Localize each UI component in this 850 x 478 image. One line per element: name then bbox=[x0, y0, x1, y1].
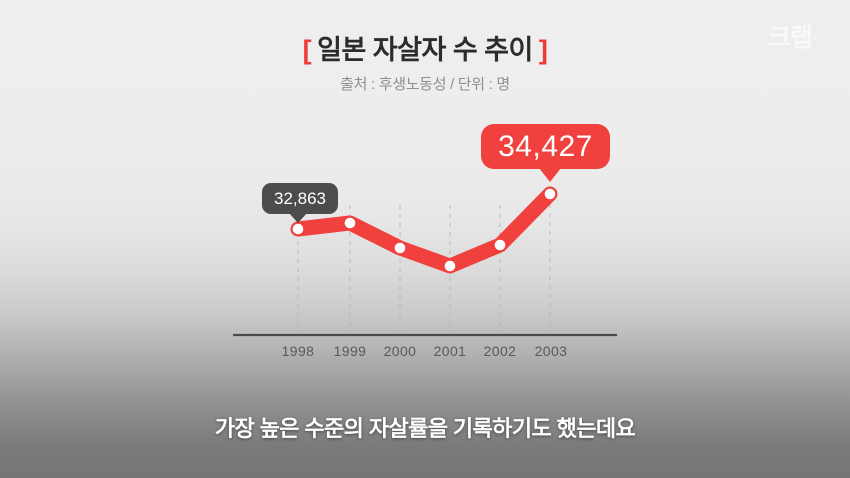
callout-2003-tail-icon bbox=[539, 168, 561, 182]
data-point-2001 bbox=[445, 261, 456, 272]
bracket-right-icon: ] bbox=[533, 35, 554, 65]
bracket-left-icon: [ bbox=[297, 35, 318, 65]
page-title: [일본 자살자 수 추이] bbox=[0, 36, 850, 66]
x-tick-2003: 2003 bbox=[521, 343, 581, 359]
callout-2003: 34,427 bbox=[481, 124, 610, 169]
page-subtitle: 출처 : 후생노동성 / 단위 : 명 bbox=[0, 73, 850, 94]
callout-2003-value: 34,427 bbox=[498, 130, 593, 164]
page-title-text: 일본 자살자 수 추이 bbox=[317, 35, 533, 65]
header: [일본 자살자 수 추이] 출처 : 후생노동성 / 단위 : 명 bbox=[0, 36, 850, 94]
video-caption: 가장 높은 수준의 자살률을 기록하기도 했는데요 bbox=[0, 411, 850, 443]
callout-1998-tail-icon bbox=[289, 213, 307, 223]
callout-1998: 32,863 bbox=[262, 183, 338, 214]
data-point-1998 bbox=[293, 224, 304, 235]
data-point-1999 bbox=[345, 218, 356, 229]
callout-1998-value: 32,863 bbox=[274, 189, 326, 209]
data-point-2003 bbox=[545, 189, 556, 200]
screenshot-root: 크랩· [일본 자살자 수 추이] 출처 : 후생노동성 / 단위 : 명 bbox=[0, 0, 850, 478]
x-tick-1998: 1998 bbox=[268, 343, 328, 359]
data-point-2002 bbox=[495, 240, 506, 251]
data-point-2000 bbox=[395, 243, 406, 254]
